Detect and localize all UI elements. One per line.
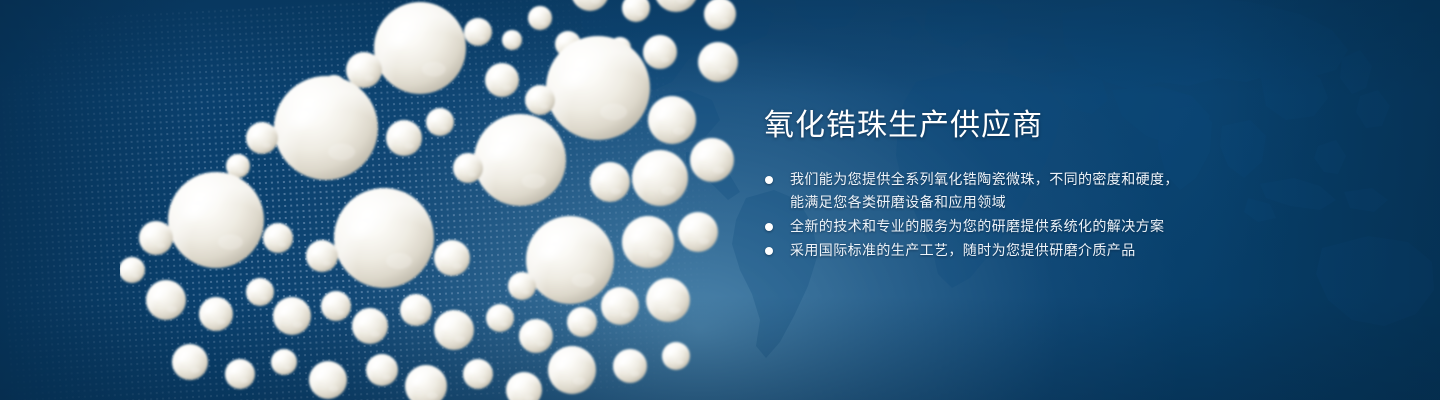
page-title: 氧化锆珠生产供应商 — [764, 106, 1234, 146]
hero-banner: 氧化锆珠生产供应商 我们能为您提供全系列氧化锆陶瓷微珠，不同的密度和硬度， 能满… — [0, 0, 1440, 400]
banner-copy-block: 氧化锆珠生产供应商 我们能为您提供全系列氧化锆陶瓷微珠，不同的密度和硬度， 能满… — [764, 106, 1234, 263]
bullet-text-line1: 全新的技术和专业的服务为您的研磨提供系统化的解决方案 — [790, 218, 1164, 234]
bullet-dot-icon — [765, 176, 773, 184]
list-item: 全新的技术和专业的服务为您的研磨提供系统化的解决方案 — [764, 215, 1234, 238]
list-item: 采用国际标准的生产工艺，随时为您提供研磨介质产品 — [764, 239, 1234, 262]
feature-bullet-list: 我们能为您提供全系列氧化锆陶瓷微珠，不同的密度和硬度， 能满足您各类研磨设备和应… — [764, 168, 1234, 262]
bullet-text-line1: 我们能为您提供全系列氧化锆陶瓷微珠，不同的密度和硬度， — [790, 171, 1179, 187]
bullet-text-line2: 能满足您各类研磨设备和应用领域 — [790, 191, 1234, 214]
bullet-dot-icon — [765, 223, 773, 231]
zirconia-beads-image — [120, 0, 760, 400]
bullet-text-line1: 采用国际标准的生产工艺，随时为您提供研磨介质产品 — [790, 242, 1136, 258]
bullet-dot-icon — [765, 247, 773, 255]
list-item: 我们能为您提供全系列氧化锆陶瓷微珠，不同的密度和硬度， 能满足您各类研磨设备和应… — [764, 168, 1234, 214]
